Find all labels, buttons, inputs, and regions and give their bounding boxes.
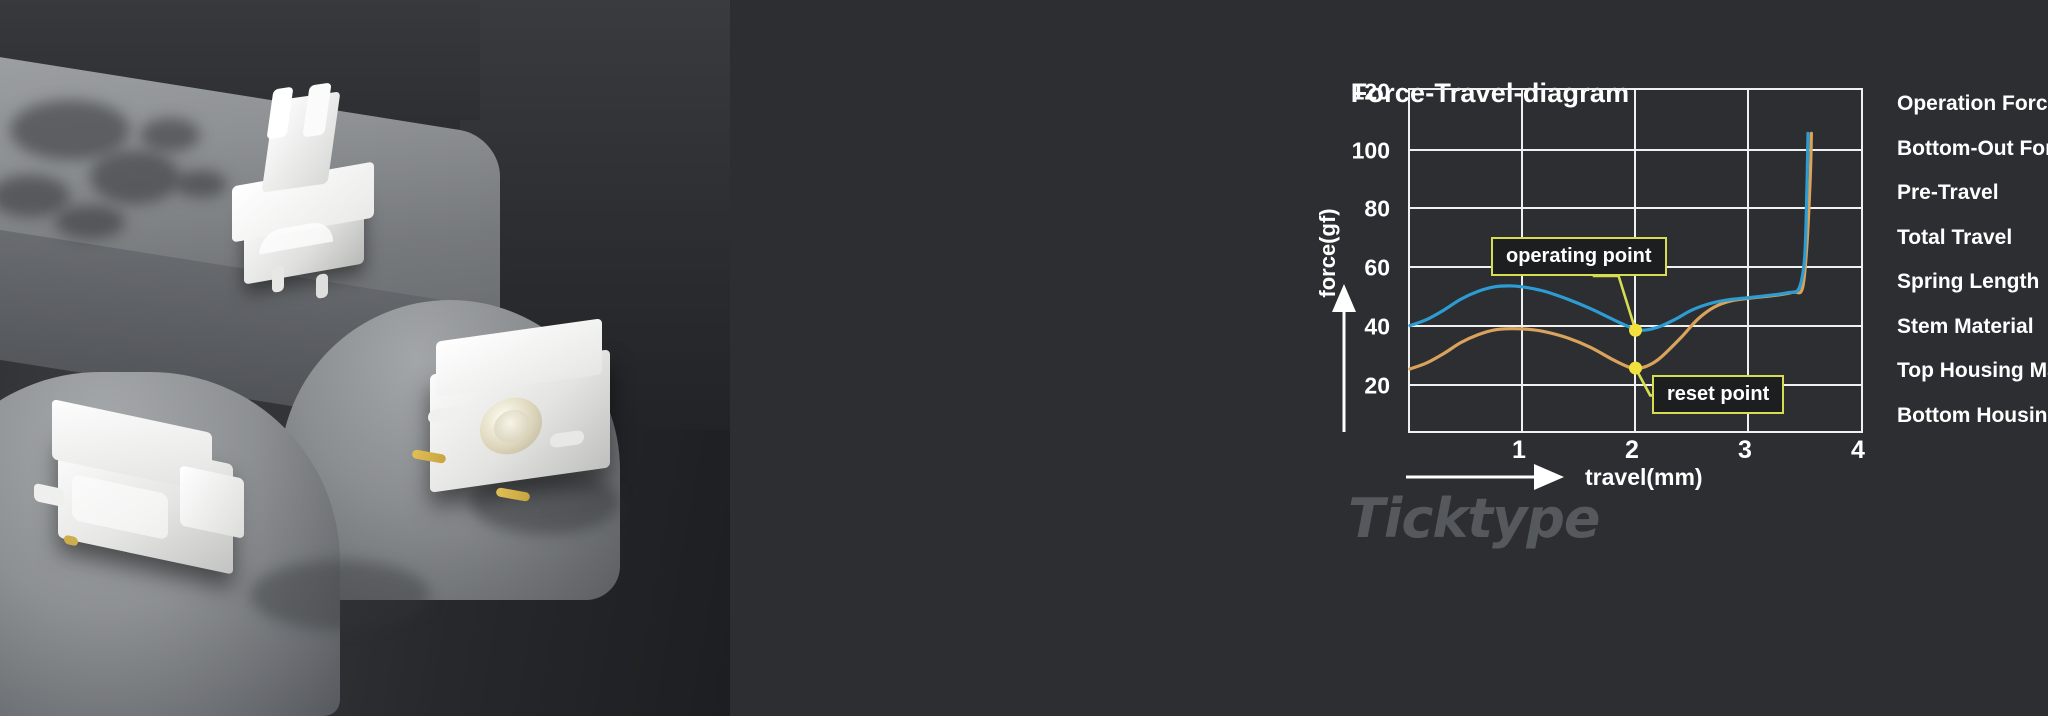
curve-press-stroke [1410,133,1808,330]
marker-operating-point [1629,324,1642,337]
leaf-shadow [90,150,180,204]
switch-front-left [28,368,278,608]
callout-operating-point: operating point [1491,237,1667,276]
spec-row: Bottom Housing MaterialPA66 [1897,404,2048,449]
spec-key: Stem Material [1897,315,2048,339]
switch-front-right [402,300,642,550]
y-tick-label: 120 [1330,79,1390,106]
y-tick-label: 100 [1330,137,1390,164]
spec-row: Total Travel3.5 ± 0.4 mm [1897,226,2048,271]
y-axis-arrow [1330,282,1358,432]
specification-table: Operation Force42 ± 10 gBottom-Out Force… [1897,92,2048,448]
marker-reset-point [1629,362,1642,375]
switch-back [212,78,402,283]
spec-key: Bottom-Out Force: [1897,137,2048,161]
leader-operating-point [1593,276,1636,330]
info-panel: Force-Travel-diagram 120 100 80 60 40 20… [730,0,2048,716]
x-tick-label: 4 [1851,436,1865,465]
x-axis-title: travel(mm) [1585,464,1703,491]
spec-key: Bottom Housing Material [1897,404,2048,428]
x-tick-label: 1 [1512,436,1526,465]
spec-row: Spring Length21 mm [1897,270,2048,315]
leaf-shadow [10,100,130,160]
product-spec-banner: Force-Travel-diagram 120 100 80 60 40 20… [0,0,2048,716]
brand-watermark: Ticktype [1348,487,1600,550]
spec-row: Top Housing MaterialPC [1897,359,2048,404]
spec-key: Pre-Travel [1897,181,2048,205]
spec-row: Pre-Travel2.0 ± 0.4 mm [1897,181,2048,226]
leaf-shadow [140,118,200,152]
switch-pin [495,487,530,502]
spec-key: Operation Force [1897,92,2048,116]
leaf-shadow [55,205,125,239]
spec-key: Spring Length [1897,270,2048,294]
spec-key: Total Travel [1897,226,2048,250]
spec-row: Bottom-Out Force:58 ± 10 g [1897,137,2048,182]
callout-reset-point: reset point [1652,375,1784,414]
x-tick-label: 3 [1738,436,1752,465]
product-photo [0,0,730,716]
spec-row: Stem MaterialPOM [1897,315,2048,360]
x-tick-label: 2 [1625,436,1639,465]
spec-key: Top Housing Material [1897,359,2048,383]
spec-row: Operation Force42 ± 10 g [1897,92,2048,137]
